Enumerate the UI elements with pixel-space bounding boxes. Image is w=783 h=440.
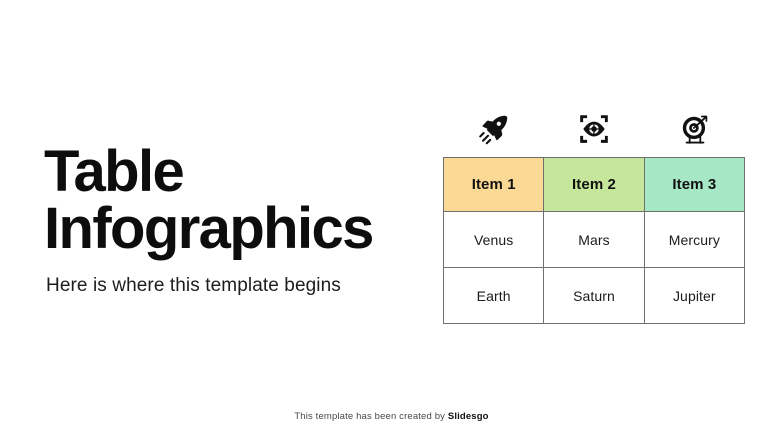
target-arrow-icon [678, 112, 712, 146]
footer-credit: This template has been created by Slides… [0, 411, 783, 422]
table-header-item-2: Item 2 [544, 158, 644, 212]
subtitle: Here is where this template begins [46, 274, 341, 298]
table-cell: Mercury [644, 212, 744, 268]
slide-canvas: Table Infographics Here is where this te… [0, 0, 783, 440]
rocket-icon [476, 112, 510, 146]
icon-row [443, 106, 745, 152]
title-block: Table Infographics [44, 143, 439, 257]
table-cell: Earth [444, 268, 544, 324]
table-container: Item 1 Item 2 Item 3 Venus Mars Mercury … [443, 157, 745, 323]
table-cell: Mars [544, 212, 644, 268]
table-cell: Saturn [544, 268, 644, 324]
table-header-item-1: Item 1 [444, 158, 544, 212]
footer-text: This template has been created by [294, 411, 445, 422]
table-header-row: Item 1 Item 2 Item 3 [444, 158, 745, 212]
page-title-line-2: Infographics [44, 200, 439, 257]
footer-brand: Slidesgo [448, 411, 489, 422]
icon-cell-item-1 [443, 106, 544, 152]
table-row: Venus Mars Mercury [444, 212, 745, 268]
icon-cell-item-3 [644, 106, 745, 152]
table-header-item-3: Item 3 [644, 158, 744, 212]
table-cell: Jupiter [644, 268, 744, 324]
table-cell: Venus [444, 212, 544, 268]
eye-target-icon [577, 112, 611, 146]
table-row: Earth Saturn Jupiter [444, 268, 745, 324]
icon-cell-item-2 [544, 106, 645, 152]
page-title-line-1: Table [44, 143, 439, 200]
info-table: Item 1 Item 2 Item 3 Venus Mars Mercury … [443, 157, 745, 324]
